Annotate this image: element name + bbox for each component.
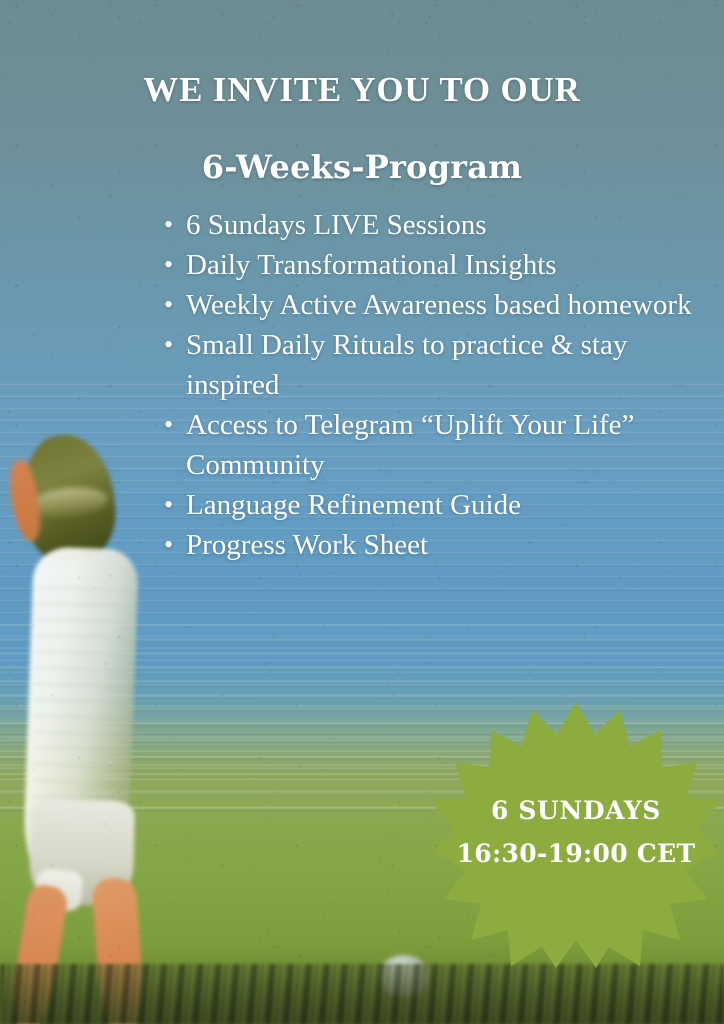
invitation-poster: WE INVITE YOU TO OUR 6-Weeks-Program 6 S… bbox=[0, 0, 724, 1024]
list-item: Progress Work Sheet bbox=[186, 525, 724, 565]
program-feature-list: 6 Sundays LIVE Sessions Daily Transforma… bbox=[150, 205, 724, 565]
list-item: Access to Telegram “Uplift Your Life” Co… bbox=[186, 405, 724, 485]
poster-title: WE INVITE YOU TO OUR bbox=[0, 70, 724, 110]
list-item: Small Daily Rituals to practice & stay i… bbox=[186, 325, 724, 405]
list-item: Weekly Active Awareness based homework bbox=[186, 285, 724, 325]
list-item: Daily Transformational Insights bbox=[186, 245, 724, 285]
starburst-icon bbox=[432, 700, 720, 968]
list-item: 6 Sundays LIVE Sessions bbox=[186, 205, 724, 245]
poster-subtitle: 6-Weeks-Program bbox=[0, 148, 724, 186]
schedule-starburst-badge: 6 SUNDAYS 16:30-19:00 CET bbox=[432, 700, 720, 968]
list-item: Language Refinement Guide bbox=[186, 485, 724, 525]
